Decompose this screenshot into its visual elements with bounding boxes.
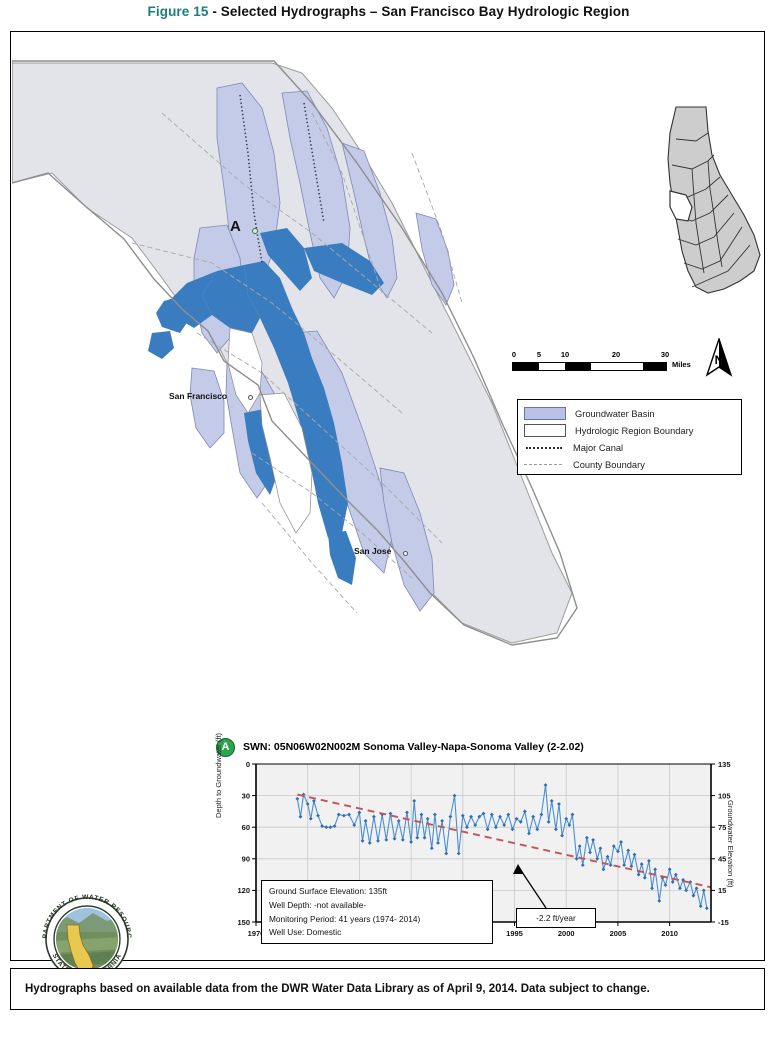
footer-note: Hydrographs based on available data from… <box>11 983 650 995</box>
figure-number: Figure 15 <box>148 4 209 19</box>
legend-item-major-canal: Major Canal <box>524 439 735 456</box>
san-jose-city-dot <box>403 551 408 556</box>
groundwater-basin-swatch-icon <box>524 407 566 420</box>
page-title: Figure 15 - Selected Hydrographs – San F… <box>0 4 777 19</box>
san-francisco-city-dot <box>248 395 253 400</box>
y-axis-title-right: Groundwater Elevation (ft) <box>726 800 735 888</box>
info-ground-surface-elevation: Ground Surface Elevation: 135ft <box>269 885 485 899</box>
legend-item-county-boundary: County Boundary <box>524 456 735 473</box>
well-info-box: Ground Surface Elevation: 135ft Well Dep… <box>261 880 493 944</box>
svg-text:60: 60 <box>242 823 250 832</box>
map-legend: Groundwater Basin Hydrologic Region Boun… <box>517 399 742 475</box>
hydrologic-region-swatch-icon <box>524 424 566 437</box>
san-francisco-label: San Francisco <box>169 391 227 401</box>
legend-label-major-canal: Major Canal <box>573 443 623 453</box>
scale-tick-0: 0 <box>512 350 516 359</box>
well-a-map-label: A <box>230 218 241 235</box>
scale-bar-units: Miles <box>672 360 691 369</box>
legend-label-hydrologic-region-boundary: Hydrologic Region Boundary <box>575 426 693 436</box>
scale-tick-20: 20 <box>612 350 620 359</box>
svg-text:2010: 2010 <box>661 929 678 938</box>
hydrograph-panel: A SWN: 05N06W02N002M Sonoma Valley-Napa-… <box>216 738 746 948</box>
san-jose-label: San Jose <box>354 546 391 556</box>
legend-item-hydrologic-region-boundary: Hydrologic Region Boundary <box>524 422 735 439</box>
well-a-marker[interactable] <box>252 228 258 234</box>
scale-bar-graphic <box>512 362 667 371</box>
svg-text:150: 150 <box>237 918 250 927</box>
svg-text:2000: 2000 <box>558 929 575 938</box>
trend-rate-annotation: -2.2 ft/year <box>516 908 596 928</box>
info-well-use: Well Use: Domestic <box>269 926 485 940</box>
hydrograph-title: SWN: 05N06W02N002M Sonoma Valley-Napa-So… <box>243 741 584 753</box>
svg-text:-15: -15 <box>718 918 729 927</box>
figure-title-rest: - Selected Hydrographs – San Francisco B… <box>208 4 629 19</box>
svg-text:2005: 2005 <box>610 929 627 938</box>
y-axis-title-left: Depth to Groundwater (ft) <box>214 733 223 818</box>
info-well-depth: Well Depth: -not available- <box>269 899 485 913</box>
map-area: A San Francisco San Jose <box>12 33 763 673</box>
scale-bar-ticks: 0 5 10 20 30 <box>512 350 672 362</box>
svg-text:0: 0 <box>246 760 250 769</box>
scale-tick-10: 10 <box>561 350 569 359</box>
legend-label-groundwater-basin: Groundwater Basin <box>575 409 655 419</box>
california-inset-map <box>662 103 763 298</box>
hydrograph-plot: 0306090120150 135105754515-15 1970197519… <box>216 760 746 948</box>
figure-frame: A San Francisco San Jose <box>10 31 765 961</box>
california-inset-graphic <box>662 103 763 298</box>
legend-item-groundwater-basin: Groundwater Basin <box>524 405 735 422</box>
trend-rate-label: -2.2 ft/year <box>536 913 576 923</box>
svg-text:90: 90 <box>242 855 250 864</box>
svg-text:30: 30 <box>242 791 250 800</box>
north-arrow-icon: N <box>704 338 734 378</box>
svg-text:1995: 1995 <box>506 929 523 938</box>
hydrograph-header: A SWN: 05N06W02N002M Sonoma Valley-Napa-… <box>216 738 746 756</box>
svg-text:120: 120 <box>237 886 250 895</box>
scale-tick-30: 30 <box>661 350 669 359</box>
major-canal-swatch-icon <box>524 443 564 453</box>
svg-text:135: 135 <box>718 760 731 769</box>
info-monitoring-period: Monitoring Period: 41 years (1974- 2014) <box>269 913 485 927</box>
scale-tick-5: 5 <box>537 350 541 359</box>
footer-frame: Hydrographs based on available data from… <box>10 968 765 1010</box>
svg-text:N: N <box>715 353 724 367</box>
county-boundary-swatch-icon <box>524 460 564 470</box>
scale-bar: 0 5 10 20 30 Miles <box>512 350 672 371</box>
legend-label-county-boundary: County Boundary <box>573 460 645 470</box>
